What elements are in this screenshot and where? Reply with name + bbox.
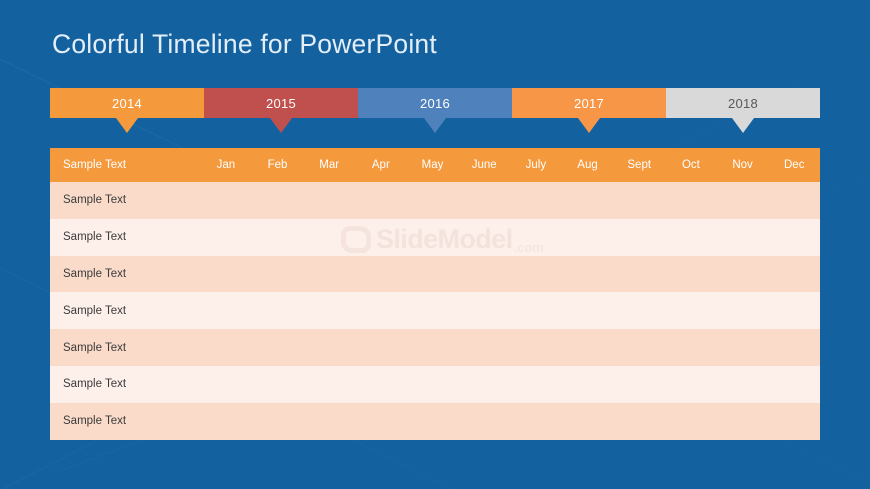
year-label: 2016	[420, 96, 450, 111]
year-cell-2014[interactable]: 2014	[50, 88, 204, 118]
table-row[interactable]: Sample Text	[50, 182, 820, 219]
row-label-cell: Sample Text	[50, 415, 200, 427]
year-label: 2014	[112, 96, 142, 111]
month-header-oct[interactable]: Oct	[665, 159, 717, 171]
table-row[interactable]: Sample Text	[50, 256, 820, 293]
year-label: 2018	[728, 96, 758, 111]
table-row[interactable]: Sample Text	[50, 366, 820, 403]
table-header-row: Sample TextJanFebMarAprMayJuneJulyAugSep…	[50, 148, 820, 182]
year-label: 2015	[266, 96, 296, 111]
month-header-sept[interactable]: Sept	[613, 159, 665, 171]
year-cell-2015[interactable]: 2015	[204, 88, 358, 118]
month-columns: JanFebMarAprMayJuneJulyAugSeptOctNovDec	[200, 159, 820, 171]
year-pointer-triangle-icon	[116, 118, 138, 133]
year-pointer-triangle-icon	[732, 118, 754, 133]
row-label-cell: Sample Text	[50, 231, 200, 243]
year-band: 20142015201620172018	[50, 88, 820, 118]
table-row[interactable]: Sample Text	[50, 292, 820, 329]
timeline-table: Sample TextJanFebMarAprMayJuneJulyAugSep…	[50, 148, 820, 440]
table-row[interactable]: Sample Text	[50, 329, 820, 366]
month-header-dec[interactable]: Dec	[768, 159, 820, 171]
row-label-cell: Sample Text	[50, 342, 200, 354]
month-header-july[interactable]: July	[510, 159, 562, 171]
year-cell-2018[interactable]: 2018	[666, 88, 820, 118]
month-header-aug[interactable]: Aug	[562, 159, 614, 171]
month-header-nov[interactable]: Nov	[717, 159, 769, 171]
row-label-cell: Sample Text	[50, 305, 200, 317]
row-label-cell: Sample Text	[50, 378, 200, 390]
year-pointer-triangle-icon	[578, 118, 600, 133]
month-header-may[interactable]: May	[407, 159, 459, 171]
year-pointer-triangle-icon	[424, 118, 446, 133]
month-header-feb[interactable]: Feb	[252, 159, 304, 171]
year-pointer-triangle-icon	[270, 118, 292, 133]
month-header-apr[interactable]: Apr	[355, 159, 407, 171]
year-cell-2016[interactable]: 2016	[358, 88, 512, 118]
month-header-june[interactable]: June	[458, 159, 510, 171]
table-row[interactable]: Sample Text	[50, 403, 820, 440]
row-label-cell: Sample Text	[50, 194, 200, 206]
year-label: 2017	[574, 96, 604, 111]
slide-title: Colorful Timeline for PowerPoint	[52, 29, 437, 60]
year-cell-2017[interactable]: 2017	[512, 88, 666, 118]
row-label-cell: Sample Text	[50, 268, 200, 280]
table-row[interactable]: Sample Text	[50, 219, 820, 256]
slide-canvas: Colorful Timeline for PowerPoint 2014201…	[0, 0, 870, 489]
month-header-jan[interactable]: Jan	[200, 159, 252, 171]
header-label-cell: Sample Text	[50, 159, 200, 171]
month-header-mar[interactable]: Mar	[303, 159, 355, 171]
